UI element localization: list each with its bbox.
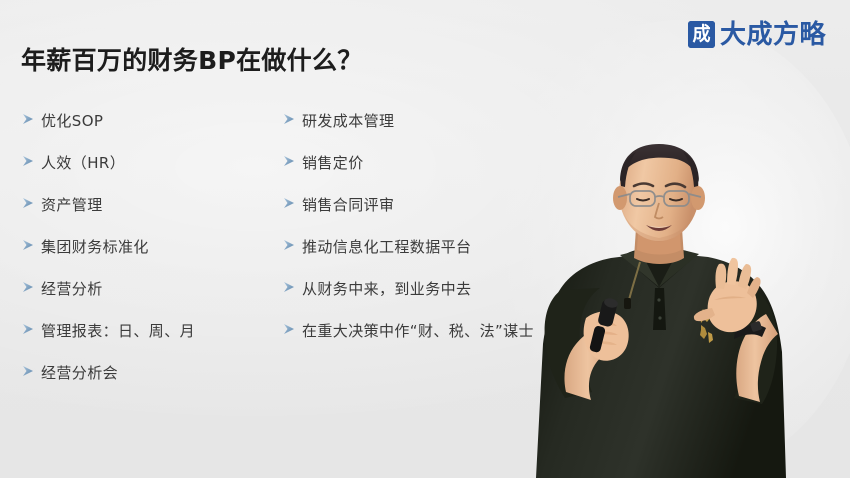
arrow-right-icon (283, 155, 302, 167)
logo-mark-glyph: 成 (692, 25, 710, 44)
list-item: 优化SOP (22, 110, 272, 152)
list-item: 推动信息化工程数据平台 (283, 236, 558, 278)
list-item: 集团财务标准化 (22, 236, 272, 278)
list-item-label: 经营分析会 (41, 362, 118, 383)
list-item-label: 管理报表：日、周、月 (41, 320, 195, 341)
list-item-label: 人效（HR） (41, 152, 125, 173)
list-item-label: 集团财务标准化 (41, 236, 149, 257)
list-item: 资产管理 (22, 194, 272, 236)
list-item: 从财务中来，到业务中去 (283, 278, 558, 320)
arrow-right-icon (22, 197, 41, 209)
arrow-right-icon (22, 239, 41, 251)
list-item: 管理报表：日、周、月 (22, 320, 272, 362)
logo-wordmark: 大成方略 (720, 22, 826, 48)
list-item-label: 研发成本管理 (302, 110, 394, 131)
presentation-slide: 成 大成方略 年薪百万的财务BP在做什么？ 优化SOP 人效（HR） (0, 0, 850, 478)
list-item: 研发成本管理 (283, 110, 558, 152)
list-item-label: 优化SOP (41, 110, 103, 131)
list-item: 人效（HR） (22, 152, 272, 194)
arrow-right-icon (22, 281, 41, 293)
arrow-right-icon (22, 365, 41, 377)
arrow-right-icon (283, 239, 302, 251)
list-item: 经营分析 (22, 278, 272, 320)
list-item-label: 销售合同评审 (302, 194, 394, 215)
list-item: 在重大决策中作“财、税、法”谋士 (283, 320, 558, 362)
arrow-right-icon (283, 323, 302, 335)
arrow-right-icon (22, 323, 41, 335)
list-item-label: 销售定价 (302, 152, 364, 173)
arrow-right-icon (22, 113, 41, 125)
list-item: 销售合同评审 (283, 194, 558, 236)
arrow-right-icon (283, 281, 302, 293)
brand-logo: 成 大成方略 (688, 21, 826, 48)
page-title: 年薪百万的财务BP在做什么？ (21, 41, 363, 77)
arrow-right-icon (283, 197, 302, 209)
logo-mark-icon: 成 (688, 21, 715, 48)
list-item-label: 推动信息化工程数据平台 (302, 236, 471, 257)
bullet-column-right: 研发成本管理 销售定价 销售合同评审 推动信息化工程数据平台 从财务中来，到业务… (283, 110, 558, 362)
list-item-label: 从财务中来，到业务中去 (302, 278, 471, 299)
list-item-label: 在重大决策中作“财、税、法”谋士 (302, 320, 534, 341)
list-item-label: 经营分析 (41, 278, 103, 299)
arrow-right-icon (283, 113, 302, 125)
list-item: 经营分析会 (22, 362, 272, 404)
arrow-right-icon (22, 155, 41, 167)
list-item-label: 资产管理 (41, 194, 103, 215)
bullet-column-left: 优化SOP 人效（HR） 资产管理 集团财务标准化 经营分析 (22, 110, 272, 404)
list-item: 销售定价 (283, 152, 558, 194)
